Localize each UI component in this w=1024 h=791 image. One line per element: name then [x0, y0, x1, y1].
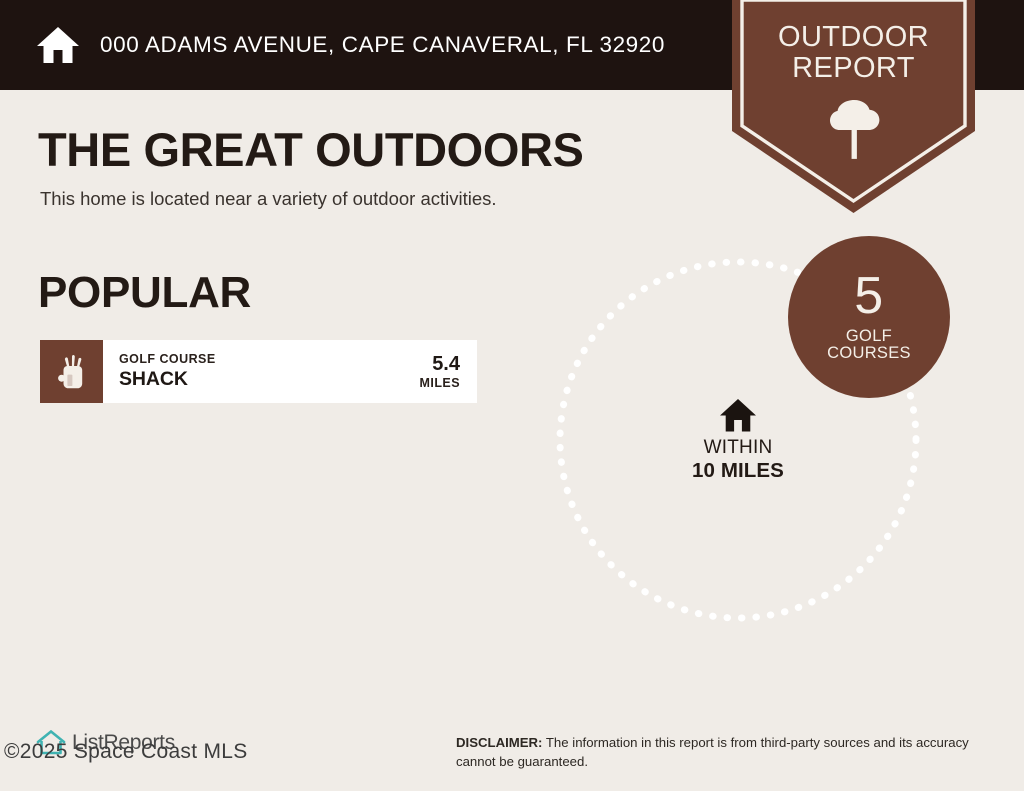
- within-label: WITHIN: [668, 438, 808, 459]
- home-icon: [0, 25, 80, 65]
- outdoor-report-badge: OUTDOOR REPORT: [732, 0, 975, 214]
- count-label: GOLF COURSES: [827, 328, 911, 364]
- disclaimer-label: DISCLAIMER:: [456, 735, 542, 750]
- count-number: 5: [854, 271, 883, 322]
- popular-section-title: POPULAR: [38, 268, 251, 318]
- page-subtitle: This home is located near a variety of o…: [40, 188, 497, 210]
- count-label-line-1: GOLF: [846, 327, 892, 345]
- home-icon: [668, 398, 808, 433]
- popular-list: GOLF COURSE SHACK 5.4 MILES: [40, 340, 477, 403]
- list-item-category: GOLF COURSE: [119, 352, 420, 368]
- count-label-line-2: COURSES: [827, 344, 911, 362]
- mls-copyright-watermark: ©2025 Space Coast MLS: [4, 740, 248, 764]
- list-item-text: GOLF COURSE SHACK: [103, 340, 420, 403]
- disclaimer: DISCLAIMER: The information in this repo…: [456, 734, 986, 771]
- distance-value: 5.4: [432, 353, 460, 376]
- golf-bag-icon: [40, 340, 103, 403]
- list-item[interactable]: GOLF COURSE SHACK 5.4 MILES: [40, 340, 477, 403]
- center-marker: WITHIN 10 MILES: [668, 398, 808, 482]
- page-title: THE GREAT OUTDOORS: [38, 122, 584, 177]
- golf-courses-count-bubble: 5 GOLF COURSES: [788, 236, 950, 398]
- property-address: 000 ADAMS AVENUE, CAPE CANAVERAL, FL 329…: [100, 32, 665, 58]
- within-distance: 10 MILES: [668, 459, 808, 483]
- distance-unit: MILES: [420, 376, 460, 391]
- list-item-distance: 5.4 MILES: [420, 340, 477, 403]
- list-item-name: SHACK: [119, 368, 420, 390]
